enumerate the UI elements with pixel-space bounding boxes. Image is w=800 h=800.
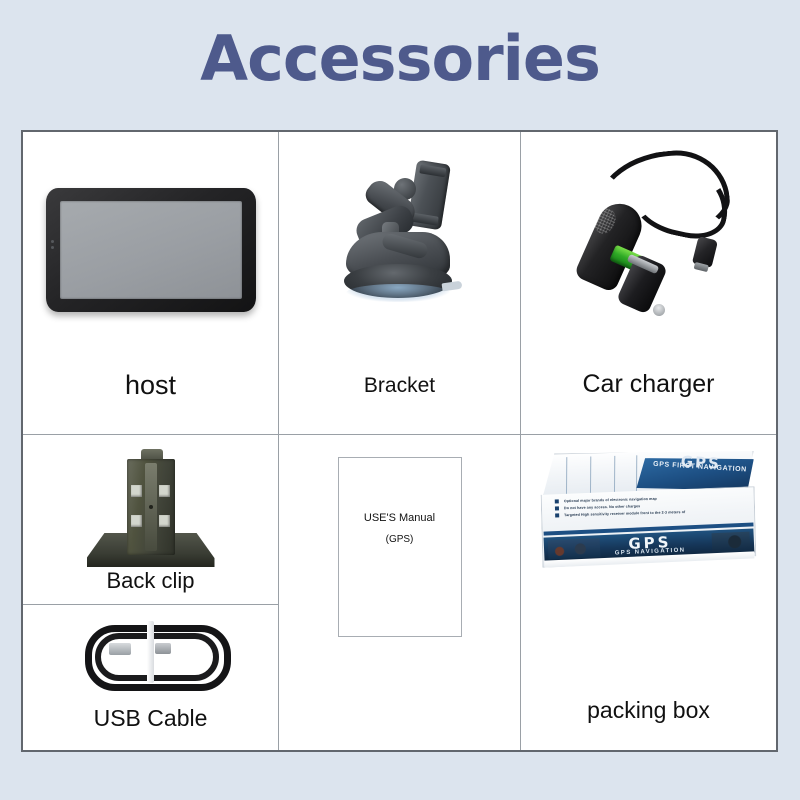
host-icon [23, 188, 278, 338]
car-charger-icon [521, 146, 776, 342]
cell-usb-cable-caption: USB Cable [23, 705, 278, 732]
packing-box-bullet: Do not have any access. No other charges [563, 504, 639, 510]
cell-host[interactable]: host [23, 132, 278, 434]
cell-usb-cable[interactable]: USB Cable [23, 605, 278, 750]
manual-booklet-icon: USE'S Manual (GPS) [338, 457, 462, 637]
accessories-grid: host Bracket [21, 130, 778, 752]
page-title: Accessories [0, 22, 800, 95]
cell-car-charger-caption: Car charger [521, 370, 776, 399]
cell-bracket[interactable]: Bracket [279, 132, 520, 434]
cell-host-caption: host [23, 370, 278, 401]
cell-back-clip-caption: Back clip [23, 568, 278, 594]
usb-cable-icon [23, 621, 278, 689]
cell-bracket-caption: Bracket [279, 374, 520, 398]
cell-back-clip[interactable]: Back clip [23, 435, 278, 604]
manual-cover-title: USE'S Manual [339, 512, 461, 524]
packing-box-icon: GPS GPS FIRST NAVIGATION Optional major … [521, 451, 776, 571]
cell-car-charger[interactable]: Car charger [521, 132, 776, 434]
cell-packing-box-caption: packing box [521, 697, 776, 724]
packing-box-bullet: Targeted High sensitivity receiver modul… [564, 510, 685, 517]
bracket-icon [279, 160, 520, 345]
packing-box-bullets: Optional major brands of electronic navi… [554, 495, 724, 520]
accessories-infographic: Accessories host [0, 0, 800, 800]
cell-manual[interactable]: USE'S Manual (GPS) [279, 435, 520, 750]
cell-packing-box[interactable]: GPS GPS FIRST NAVIGATION Optional major … [521, 435, 776, 750]
back-clip-icon [23, 449, 278, 571]
manual-cover-subtitle: (GPS) [339, 534, 461, 545]
